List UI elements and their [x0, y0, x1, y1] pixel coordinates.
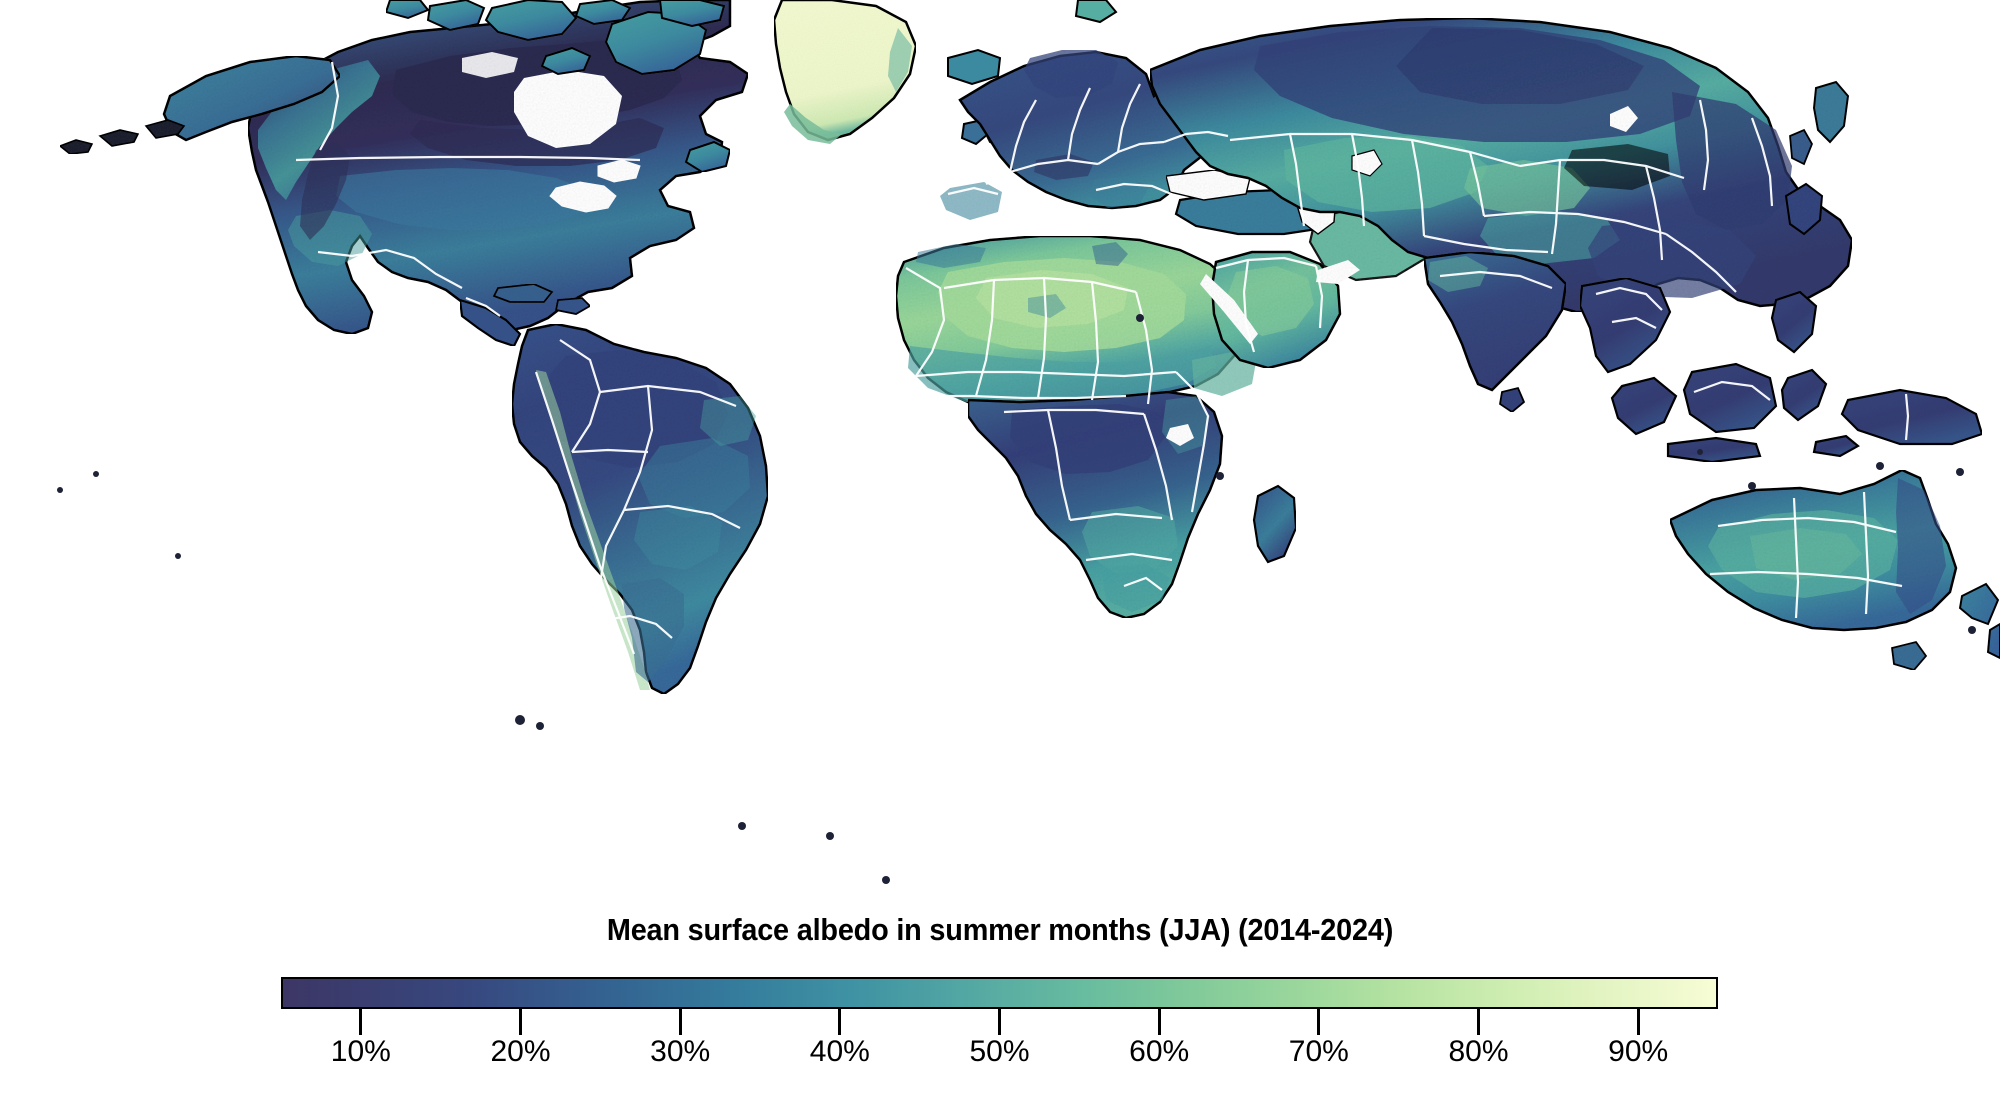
island-dot	[536, 722, 544, 730]
island-devon	[576, 0, 630, 24]
region-north-africa	[896, 236, 1242, 406]
colorbar-tick-label: 90%	[1608, 1035, 1668, 1069]
world-map-svg	[0, 0, 2000, 900]
world-map	[0, 0, 2000, 900]
colorbar-tick-label: 80%	[1448, 1035, 1508, 1069]
island-dot	[826, 832, 834, 840]
colorbar-tick	[519, 1009, 522, 1035]
colorbar-tick	[838, 1009, 841, 1035]
colorbar-tick	[1637, 1009, 1640, 1035]
island-dot	[882, 876, 890, 884]
colorbar-gradient	[281, 977, 1718, 1009]
albedo-map-figure: Mean surface albedo in summer months (JJ…	[0, 0, 2000, 1098]
colorbar-tick	[998, 1009, 1001, 1035]
colorbar: 10%20%30%40%50%60%70%80%90%	[281, 977, 1718, 1009]
colorbar-tick	[1477, 1009, 1480, 1035]
colorbar-tick	[1158, 1009, 1161, 1035]
colorbar-tick-label: 40%	[810, 1035, 870, 1069]
island-dot	[93, 471, 99, 477]
island-dot	[515, 715, 525, 725]
colorbar-tick	[359, 1009, 362, 1035]
colorbar-tick	[1317, 1009, 1320, 1035]
island-dot	[1968, 626, 1976, 634]
colorbar-tick-label: 10%	[331, 1035, 391, 1069]
colorbar-tick-label: 60%	[1129, 1035, 1189, 1069]
island-dot	[57, 487, 63, 493]
colorbar-tick	[679, 1009, 682, 1035]
island-dot	[1216, 472, 1224, 480]
colorbar-title: Mean surface albedo in summer months (JJ…	[70, 912, 1930, 948]
island-java	[1668, 438, 1760, 462]
island-dot	[1697, 449, 1703, 455]
island-dot	[175, 553, 181, 559]
island-dot	[1136, 314, 1144, 322]
island-dot	[738, 822, 746, 830]
colorbar-ticks	[281, 1009, 1718, 1035]
island-dot	[1876, 462, 1884, 470]
island-dot	[1956, 468, 1964, 476]
island-dot	[1748, 482, 1756, 490]
colorbar-tick-label: 30%	[650, 1035, 710, 1069]
colorbar-tick-labels: 10%20%30%40%50%60%70%80%90%	[281, 1035, 1718, 1075]
colorbar-tick-label: 70%	[1289, 1035, 1349, 1069]
colorbar-tick-label: 50%	[969, 1035, 1029, 1069]
colorbar-tick-label: 20%	[490, 1035, 550, 1069]
